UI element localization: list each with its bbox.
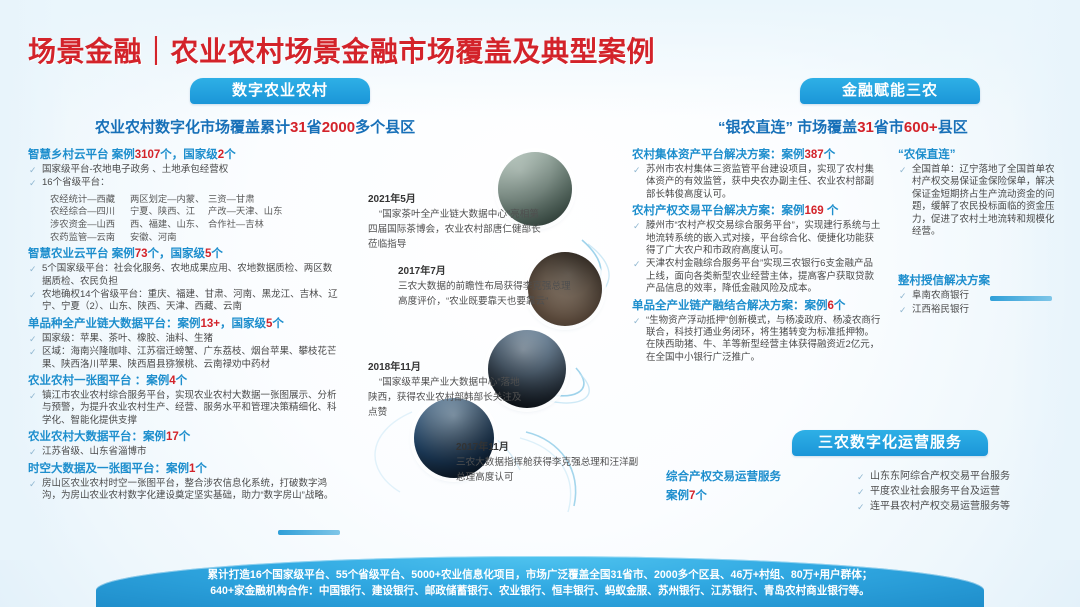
decorative-bar-right xyxy=(990,296,1052,301)
right-section: 单品全产业链产融结合解决方案：案例6个“生物资产浮动抵押”创新模式，与杨凌政府、… xyxy=(632,299,882,365)
list-item: “生物资产浮动抵押”创新模式，与杨凌政府、杨凌农商行联合，科技打通业务闭环，将生… xyxy=(632,315,882,365)
province-cell: 西、福建、山东、 xyxy=(130,218,208,231)
bottom-summary-banner: 累计打造16个国家级平台、55个省级平台、5000+农业信息化项目，市场广泛覆盖… xyxy=(96,556,984,607)
list-item: 苏州市农村集体三资监管平台建设项目，实现了农村集体资产的有效监管，获中央农办副主… xyxy=(632,164,882,201)
headline-right-num1: 31 xyxy=(857,119,874,136)
left-section-title: 农业农村一张图平台 ：案例4个 xyxy=(28,374,340,389)
left-section-title: 智慧农业云平台 案例73个，国家级5个 xyxy=(28,247,340,262)
headline-right-pre: “银农直连” xyxy=(718,119,793,136)
list-item: 江西裕民银行 xyxy=(898,304,1056,316)
left-section-title: 单品种全产业链大数据平台：案例13+，国家级5个 xyxy=(28,317,340,332)
headline-right-mid: 市场覆盖 xyxy=(793,119,857,136)
list-item: 国家级：苹果、茶叶、橡胶、油料、生猪 xyxy=(28,333,340,345)
headline-left-post: 多个县区 xyxy=(355,119,415,136)
province-cell: 涉农资金—山西 xyxy=(50,218,130,231)
left-item-list: 国家级平台-农地电子政务 、土地承包经营权16个省级平台： xyxy=(28,164,340,190)
banner-line-1: 累计打造16个国家级平台、55个省级平台、5000+农业信息化项目，市场广泛覆盖… xyxy=(122,568,958,584)
province-cell: 农经统计—西藏 xyxy=(50,193,130,206)
list-item: 镇江市农业农村综合服务平台，实现农业农村大数据一张图展示、分析与预警，为提升农业… xyxy=(28,390,340,427)
timeline-date: 2018年11月 xyxy=(368,360,528,375)
timeline-text: 三农大数据的前瞻性布局获得李克强总理高度评价，“农业既要靠天也要靠云” xyxy=(398,279,576,309)
right-side-section: “农保直连”全国首单：辽宁落地了全国首单农村产权交易保证金保险保单，解决保证金短… xyxy=(898,148,1056,238)
left-item-list: 江苏省级、山东省淄博市 xyxy=(28,446,340,458)
headline-left-pre: 农业农村数字化市场覆盖累计 xyxy=(95,119,290,136)
left-item-list: 5个国家级平台：社会化服务、农地成果应用、农地数据质检、两区数据质检、农民负担农… xyxy=(28,263,340,314)
province-cell: 宁夏、陕西、江 xyxy=(130,205,208,218)
timeline-date: 2021年5月 xyxy=(368,192,546,207)
left-item-list: 镇江市农业农村综合服务平台，实现农业农村大数据一张图展示、分析与预警，为提升农业… xyxy=(28,390,340,427)
timeline-text: “国家茶叶全产业链大数据中心”亮相第四届国际茶博会，农业农村部唐仁健部长莅临指导 xyxy=(368,207,546,252)
left-section: 农业农村一张图平台 ：案例4个镇江市农业农村综合服务平台，实现农业农村大数据一张… xyxy=(28,374,340,427)
left-item-list: 国家级：苹果、茶叶、橡胶、油料、生猪区域：海南兴隆咖啡、江苏宿迁螃蟹、广东荔枝、… xyxy=(28,333,340,371)
ops-items-list: 山东东阿综合产权交易平台服务平度农业社会服务平台及运营连平县农村产权交易运营服务… xyxy=(856,470,1076,517)
ops-title-line2: 案例7个 xyxy=(666,487,826,506)
province-cell: 合作社—吉林 xyxy=(208,218,340,231)
right-item-list: 苏州市农村集体三资监管平台建设项目，实现了农村集体资产的有效监管，获中央农办副主… xyxy=(632,164,882,201)
right-section: 农村产权交易平台解决方案：案例169 个滕州市“农村产权交易综合服务平台”，实现… xyxy=(632,204,882,295)
ops-left-title-block: 综合产权交易运营服务 案例7个 xyxy=(666,468,826,506)
timeline-note-3: 2018年11月 “国家级苹果产业大数据中心”落地陕西，获得农业农村部韩部长关注… xyxy=(368,360,528,420)
right-side-item-list: 全国首单：辽宁落地了全国首单农村产权交易保证金保险保单，解决保证金短期挤占生产流… xyxy=(898,164,1056,238)
province-cell: 两区划定—内蒙、 xyxy=(130,193,208,206)
timeline-date: 2017年11月 xyxy=(456,440,646,455)
list-item: 山东东阿综合产权交易平台服务 xyxy=(856,470,1076,484)
headline-left-num1: 31 xyxy=(290,119,307,136)
timeline-note-2: 2017年7月 三农大数据的前瞻性布局获得李克强总理高度评价，“农业既要靠天也要… xyxy=(398,264,576,309)
province-cell: 三资—甘肃 xyxy=(208,193,340,206)
banner-text: 累计打造16个国家级平台、55个省级平台、5000+农业信息化项目，市场广泛覆盖… xyxy=(96,568,984,599)
right-side-section-title: 整村授信解决方案 xyxy=(898,274,1056,289)
list-item: 平度农业社会服务平台及运营 xyxy=(856,485,1076,499)
timeline-note-1: 2021年5月 “国家茶叶全产业链大数据中心”亮相第四届国际茶博会，农业农村部唐… xyxy=(368,192,546,252)
right-item-list: 滕州市“农村产权交易综合服务平台”，实现建行系统与土地流转系统的嵌入式对接，平台… xyxy=(632,220,882,295)
list-item: 区域：海南兴隆咖啡、江苏宿迁螃蟹、广东荔枝、烟台苹果、攀枝花芒果、陕西洛川苹果、… xyxy=(28,346,340,371)
left-section: 智慧农业云平台 案例73个，国家级5个5个国家级平台：社会化服务、农地成果应用、… xyxy=(28,247,340,314)
list-item: 天津农村金融综合服务平台”实现三农银行6支金融产品上线，面向各类新型农业经营主体… xyxy=(632,258,882,295)
page-title: 场景金融｜农业农村场景金融市场覆盖及典型案例 xyxy=(28,30,655,70)
section-pill-ops-service: 三农数字化运营服务 xyxy=(792,430,988,456)
left-section-title: 农业农村大数据平台：案例17个 xyxy=(28,430,340,445)
timeline-note-4: 2017年11月 三农大数据指挥舱获得李克强总理和汪洋副总理高度认可 xyxy=(456,440,646,485)
province-cell: 安徽、河南 xyxy=(130,231,208,244)
left-section-title: 时空大数据及一张图平台：案例1个 xyxy=(28,462,340,477)
left-section: 单品种全产业链大数据平台：案例13+，国家级5个国家级：苹果、茶叶、橡胶、油料、… xyxy=(28,317,340,371)
list-item: 农地确权14个省级平台：重庆、福建、甘肃、河南、黑龙江、吉林、辽宁、宁夏（2）、… xyxy=(28,289,340,314)
left-section: 智慧乡村云平台 案例3107个，国家级2个国家级平台-农地电子政务 、土地承包经… xyxy=(28,148,340,243)
left-column-headline: 农业农村数字化市场覆盖累计31省2000多个县区 xyxy=(95,116,415,137)
list-item: 国家级平台-农地电子政务 、土地承包经营权 xyxy=(28,164,340,176)
section-pill-finance-empower: 金融赋能三农 xyxy=(800,78,980,104)
list-item: 连平县农村产权交易运营服务等 xyxy=(856,500,1076,514)
headline-right-num2: 600+ xyxy=(904,119,938,136)
headline-right-post: 县区 xyxy=(938,119,968,136)
left-item-list: 房山区农业农村时空一张图平台，整合涉农信息化系统，打破数字鸿沟，为房山农业农村数… xyxy=(28,478,340,503)
right-item-list: “生物资产浮动抵押”创新模式，与杨凌政府、杨凌农商行联合，科技打通业务闭环，将生… xyxy=(632,315,882,365)
right-section-title: 农村产权交易平台解决方案：案例169 个 xyxy=(632,204,882,219)
right-section: 农村集体资产平台解决方案：案例387个苏州市农村集体三资监管平台建设项目，实现了… xyxy=(632,148,882,201)
right-content-column: 农村集体资产平台解决方案：案例387个苏州市农村集体三资监管平台建设项目，实现了… xyxy=(632,148,882,367)
province-cell: 农经综合—四川 xyxy=(50,205,130,218)
timeline-text: 三农大数据指挥舱获得李克强总理和汪洋副总理高度认可 xyxy=(456,455,646,485)
ops-title-line1: 综合产权交易运营服务 xyxy=(666,468,826,487)
province-platform-grid: 农经统计—西藏两区划定—内蒙、三资—甘肃农经综合—四川宁夏、陕西、江产改—天津、… xyxy=(50,193,340,243)
slide-root: 场景金融｜农业农村场景金融市场覆盖及典型案例 数字农业农村 金融赋能三农 三农数… xyxy=(0,0,1080,607)
timeline-date: 2017年7月 xyxy=(398,264,576,279)
right-side-column: “农保直连”全国首单：辽宁落地了全国首单农村产权交易保证金保险保单，解决保证金短… xyxy=(898,148,1056,319)
left-section-title: 智慧乡村云平台 案例3107个，国家级2个 xyxy=(28,148,340,163)
right-column-headline: “银农直连” 市场覆盖31省市600+县区 xyxy=(718,116,968,137)
left-section: 时空大数据及一张图平台：案例1个房山区农业农村时空一张图平台，整合涉农信息化系统… xyxy=(28,462,340,503)
list-item: 16个省级平台： xyxy=(28,177,340,189)
right-section-title: 单品全产业链产融结合解决方案：案例6个 xyxy=(632,299,882,314)
headline-left-mid: 省 xyxy=(307,119,322,136)
province-cell xyxy=(208,231,340,244)
headline-left-num2: 2000 xyxy=(322,119,355,136)
list-item: 江苏省级、山东省淄博市 xyxy=(28,446,340,458)
headline-right-unit1: 省市 xyxy=(874,119,904,136)
list-item: 5个国家级平台：社会化服务、农地成果应用、农地数据质检、两区数据质检、农民负担 xyxy=(28,263,340,288)
list-item: 全国首单：辽宁落地了全国首单农村产权交易保证金保险保单，解决保证金短期挤占生产流… xyxy=(898,164,1056,238)
banner-line-2: 640+家金融机构合作：中国银行、建设银行、邮政储蓄银行、农业银行、恒丰银行、蚂… xyxy=(122,584,958,600)
province-cell: 农药监管—云南 xyxy=(50,231,130,244)
right-side-item-list: 阜南农商银行江西裕民银行 xyxy=(898,290,1056,316)
province-cell: 产改—天津、山东 xyxy=(208,205,340,218)
decorative-bar-left xyxy=(278,530,340,535)
left-content-column: 智慧乡村云平台 案例3107个，国家级2个国家级平台-农地电子政务 、土地承包经… xyxy=(28,148,340,505)
right-section-title: 农村集体资产平台解决方案：案例387个 xyxy=(632,148,882,163)
section-pill-digital-agriculture: 数字农业农村 xyxy=(190,78,370,104)
list-item: 滕州市“农村产权交易综合服务平台”，实现建行系统与土地流转系统的嵌入式对接，平台… xyxy=(632,220,882,257)
right-side-section-title: “农保直连” xyxy=(898,148,1056,163)
left-section: 农业农村大数据平台：案例17个江苏省级、山东省淄博市 xyxy=(28,430,340,458)
list-item: 房山区农业农村时空一张图平台，整合涉农信息化系统，打破数字鸿沟，为房山农业农村数… xyxy=(28,478,340,503)
timeline-text: “国家级苹果产业大数据中心”落地陕西，获得农业农村部韩部长关注及点赞 xyxy=(368,375,528,420)
ops-item-list: 山东东阿综合产权交易平台服务平度农业社会服务平台及运营连平县农村产权交易运营服务… xyxy=(856,470,1076,514)
